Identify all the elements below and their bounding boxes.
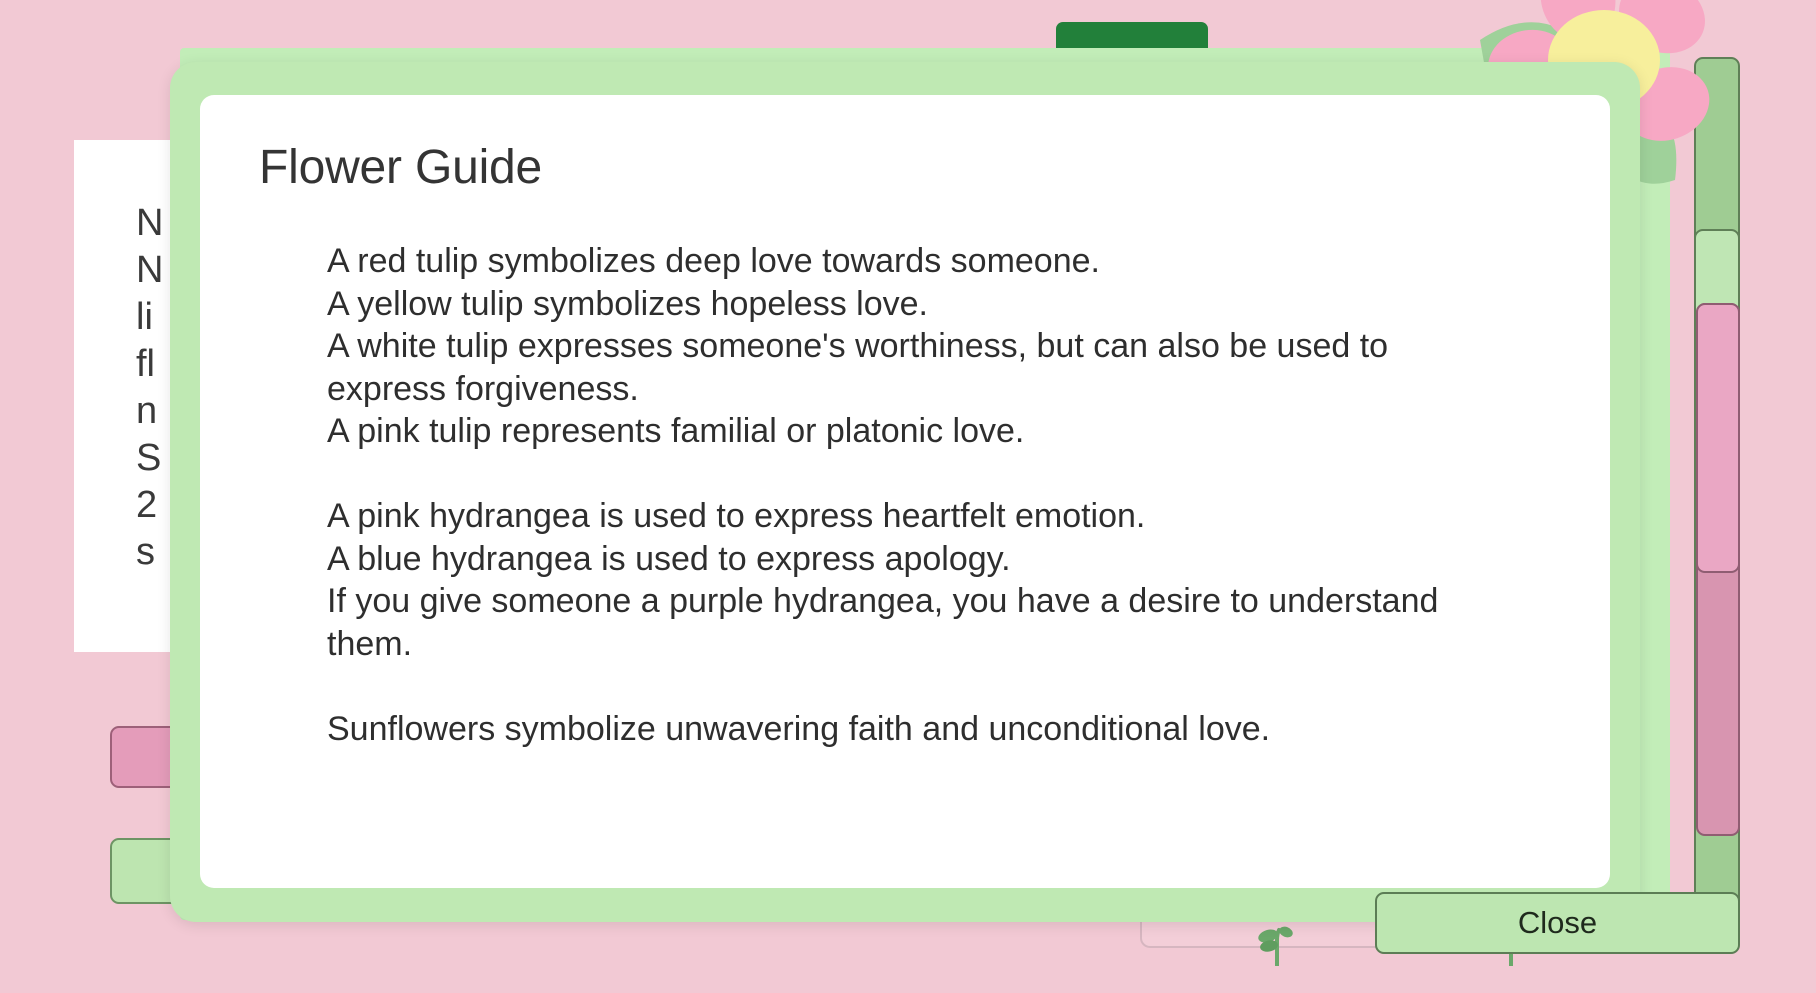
dialog-panel: Flower Guide A red tulip symbolizes deep… (200, 95, 1610, 888)
dialog-scrollbar[interactable] (1696, 303, 1740, 836)
guide-line: A blue hydrangea is used to express apol… (327, 538, 1457, 581)
guide-line: Sunflowers symbolize unwavering faith an… (327, 708, 1457, 751)
guide-line: If you give someone a purple hydrangea, … (327, 580, 1457, 665)
close-button[interactable]: Close (1375, 892, 1740, 954)
dialog-body-text: A red tulip symbolizes deep love towards… (327, 240, 1457, 750)
guide-line-spacer (327, 453, 1457, 496)
guide-line: A pink hydrangea is used to express hear… (327, 495, 1457, 538)
guide-line: A yellow tulip symbolizes hopeless love. (327, 283, 1457, 326)
dialog-title: Flower Guide (259, 140, 542, 195)
guide-line: A pink tulip represents familial or plat… (327, 410, 1457, 453)
petal (1531, 0, 1624, 50)
sprout-icon (1257, 922, 1297, 966)
guide-line: A white tulip expresses someone's worthi… (327, 325, 1457, 410)
guide-line: A red tulip symbolizes deep love towards… (327, 240, 1457, 283)
dialog-scrollbar-thumb[interactable] (1696, 303, 1740, 573)
flower-guide-dialog: Flower Guide A red tulip symbolizes deep… (170, 62, 1640, 922)
guide-line-spacer (327, 665, 1457, 708)
